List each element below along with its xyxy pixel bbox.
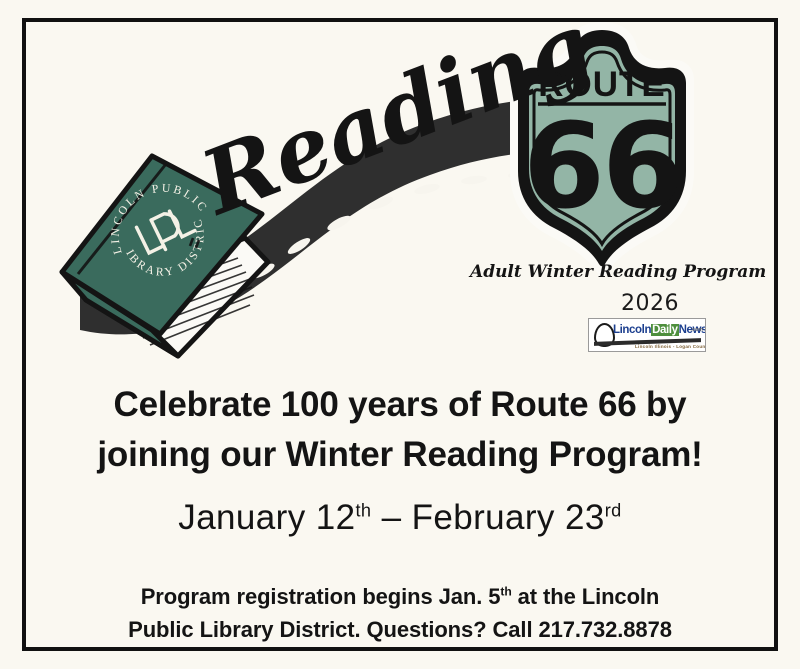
date-start-month: January: [178, 498, 305, 537]
date-end-month: February: [412, 498, 555, 537]
date-start-day: 12: [316, 498, 356, 537]
footnote-line-2: Public Library District. Questions? Call…: [40, 613, 760, 646]
headline: Celebrate 100 years of Route 66 by joini…: [40, 380, 760, 479]
date-end-day: 23: [565, 498, 605, 537]
footnote-line-1-before: Program registration begins Jan. 5: [141, 584, 501, 609]
date-end-ordinal: rd: [605, 500, 622, 520]
headline-line-1: Celebrate 100 years of Route 66 by: [40, 380, 760, 430]
date-separator: –: [382, 498, 402, 537]
poster: LINCOLN PUBLIC LIBRARY DISTRICT: [0, 0, 800, 669]
footnote-line-1: Program registration begins Jan. 5th at …: [40, 580, 760, 613]
footnote-line-1-after: at the Lincoln: [512, 584, 660, 609]
program-script-caption: Adult Winter Reading Program: [470, 262, 740, 282]
headline-line-2: joining our Winter Reading Program!: [40, 430, 760, 480]
footnote-line-1-ordinal: th: [500, 585, 511, 599]
route-number-text: 66: [523, 97, 681, 235]
ldn-word-daily: Daily: [651, 324, 679, 336]
date-start-ordinal: th: [355, 500, 371, 520]
lincoln-daily-news-logo: LincolnDailyNews .com Lincoln Illinois -…: [588, 318, 706, 352]
date-range: January 12th – February 23rd: [40, 497, 760, 539]
ldn-tagline: Lincoln Illinois - Logan County Publicat…: [635, 344, 706, 349]
ldn-domain: .com: [691, 327, 703, 333]
registration-footnote: Program registration begins Jan. 5th at …: [40, 580, 760, 646]
ldn-word-lincoln: Lincoln: [613, 324, 651, 336]
program-year: 2026: [560, 291, 740, 316]
